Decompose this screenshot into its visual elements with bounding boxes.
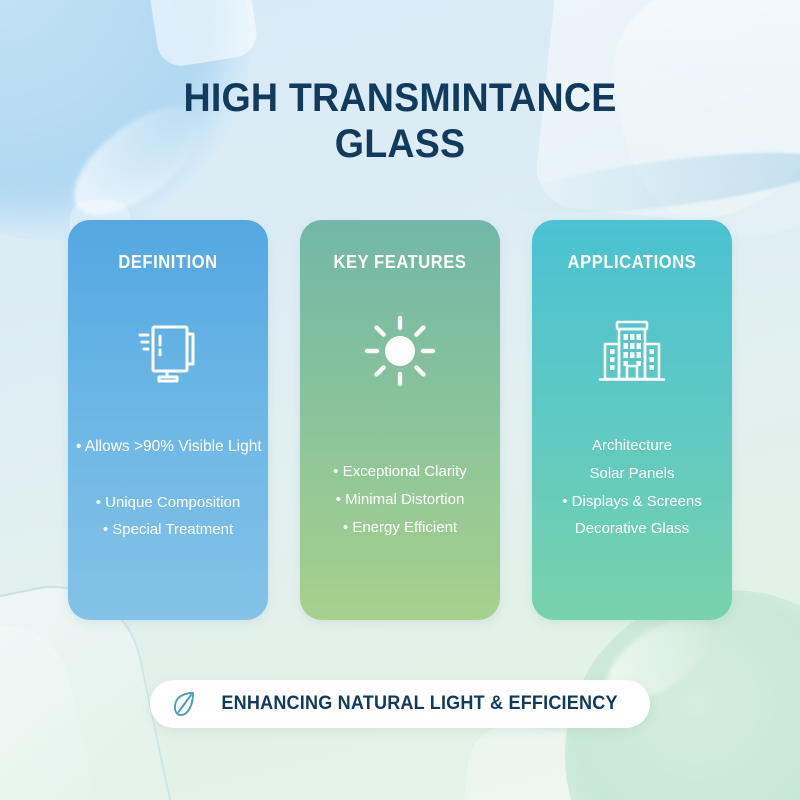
card-key-features-icon-wrap <box>300 291 500 411</box>
list-item: • Minimal Distortion <box>308 486 492 514</box>
card-definition-title: DEFINITION <box>76 252 260 273</box>
sun-icon <box>363 314 437 388</box>
page-title-line-2: GLASS <box>24 122 776 168</box>
page-title: HIGH TRANSMINTANCE GLASS <box>24 76 776 167</box>
glass-panel-icon <box>129 312 207 390</box>
list-item: • Special Treatment <box>76 516 260 544</box>
card-key-features-title: KEY FEATURES <box>308 252 492 273</box>
card-definition-bullets: • Allows >90% Visible Light • Unique Com… <box>68 433 268 544</box>
leaf-icon <box>172 689 199 719</box>
list-item: • Energy Efficient <box>308 514 492 542</box>
card-key-features[interactable]: KEY FEATURES • E <box>300 220 500 620</box>
footer-banner[interactable]: ENHANCING NATURAL LIGHT & EFFICIENCY <box>150 680 650 728</box>
list-item: Decorative Glass <box>540 515 724 543</box>
card-group: DEFINITION • A <box>68 220 732 620</box>
building-icon <box>592 311 672 391</box>
list-item: • Displays & Screens <box>540 488 724 516</box>
card-applications[interactable]: APPLICATIONS <box>532 220 732 620</box>
card-definition[interactable]: DEFINITION • A <box>68 220 268 620</box>
footer-text: ENHANCING NATURAL LIGHT & EFFICIENCY <box>221 693 617 715</box>
list-item: • Exceptional Clarity <box>308 458 492 486</box>
list-item: • Unique Composition <box>76 489 260 517</box>
card-applications-icon-wrap <box>532 291 732 411</box>
page-title-line-1: HIGH TRANSMINTANCE <box>24 76 776 122</box>
infographic-page: HIGH TRANSMINTANCE GLASS DEFINITION <box>0 0 800 800</box>
card-key-features-bullets: • Exceptional Clarity • Minimal Distorti… <box>300 458 500 541</box>
list-item: Solar Panels <box>540 460 724 488</box>
card-definition-icon-wrap <box>68 291 268 411</box>
card-applications-title: APPLICATIONS <box>540 252 724 273</box>
list-item: Architecture <box>540 432 724 460</box>
list-item: • Allows >90% Visible Light <box>76 433 260 462</box>
card-applications-bullets: Architecture Solar Panels • Displays & S… <box>532 432 732 543</box>
